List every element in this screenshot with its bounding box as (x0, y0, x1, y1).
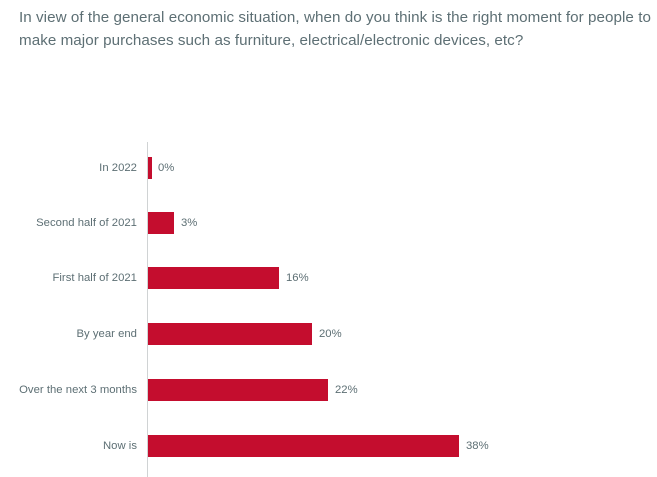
bar-row: First half of 2021 16% (0, 267, 657, 289)
bar (148, 323, 312, 345)
category-label: Now is (0, 435, 137, 457)
bar (148, 379, 328, 401)
category-label: Second half of 2021 (0, 212, 137, 234)
bar-row: In 2022 0% (0, 157, 657, 179)
bar-row: Second half of 2021 3% (0, 212, 657, 234)
plot-area: In 2022 0% Second half of 2021 3% First … (0, 130, 657, 477)
value-label: 3% (181, 212, 197, 234)
bar-chart: In view of the general economic situatio… (0, 0, 657, 477)
bar (148, 212, 174, 234)
chart-title: In view of the general economic situatio… (19, 6, 655, 52)
value-label: 20% (319, 323, 342, 345)
value-label: 38% (466, 435, 489, 457)
bar-row: By year end 20% (0, 323, 657, 345)
category-axis-line (147, 142, 148, 477)
value-label: 16% (286, 267, 309, 289)
bar (148, 435, 459, 457)
category-label: By year end (0, 323, 137, 345)
category-label: Over the next 3 months (0, 379, 137, 401)
category-label: In 2022 (0, 157, 137, 179)
category-label: First half of 2021 (0, 267, 137, 289)
bar-row: Now is 38% (0, 435, 657, 457)
value-label: 22% (335, 379, 358, 401)
bar-row: Over the next 3 months 22% (0, 379, 657, 401)
value-label: 0% (158, 157, 174, 179)
bar (148, 267, 279, 289)
bar (148, 157, 152, 179)
